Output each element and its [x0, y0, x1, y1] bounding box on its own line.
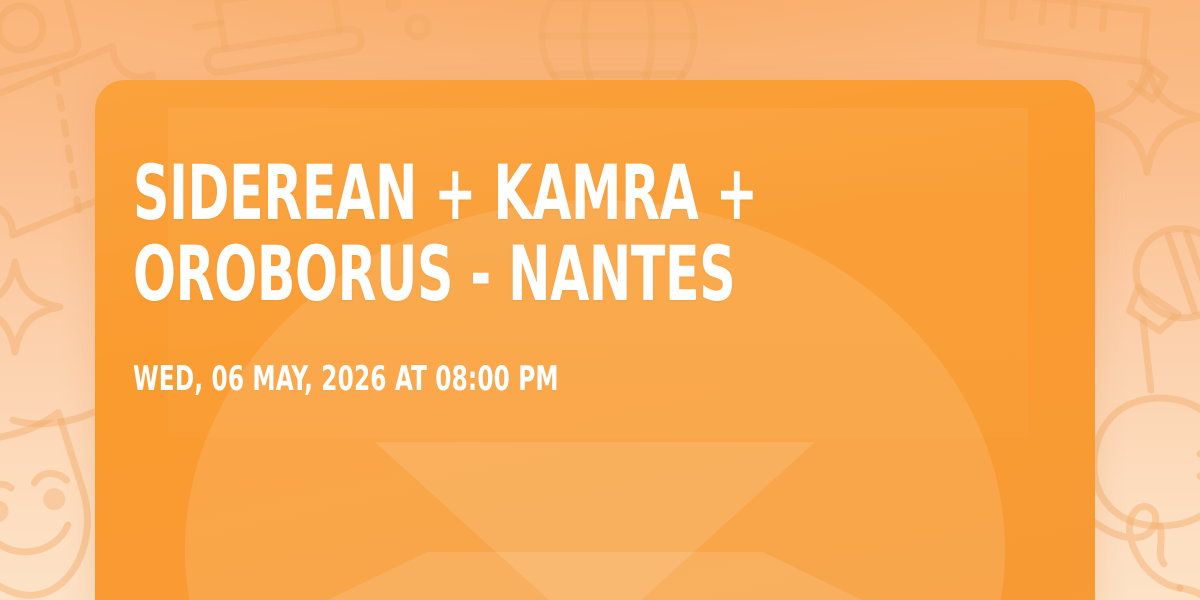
ring-icon [398, 14, 438, 54]
event-banner: Siderean + Kamra + Oroborus - Nantes Wed… [0, 0, 1200, 600]
dot-icon [378, 0, 408, 24]
frame-icon [0, 0, 90, 90]
event-title: Siderean + Kamra + Oroborus - Nantes [133, 152, 1056, 315]
microphone-icon [1086, 222, 1200, 402]
sparkle-icon [1082, 52, 1200, 182]
sparkle-icon [0, 252, 70, 362]
event-date: Wed, 06 May, 2026 at 08:00 PM [133, 361, 1053, 398]
event-card: Siderean + Kamra + Oroborus - Nantes Wed… [95, 80, 1095, 600]
card-content: Siderean + Kamra + Oroborus - Nantes Wed… [133, 152, 1057, 398]
balloon-icon [1102, 382, 1200, 562]
